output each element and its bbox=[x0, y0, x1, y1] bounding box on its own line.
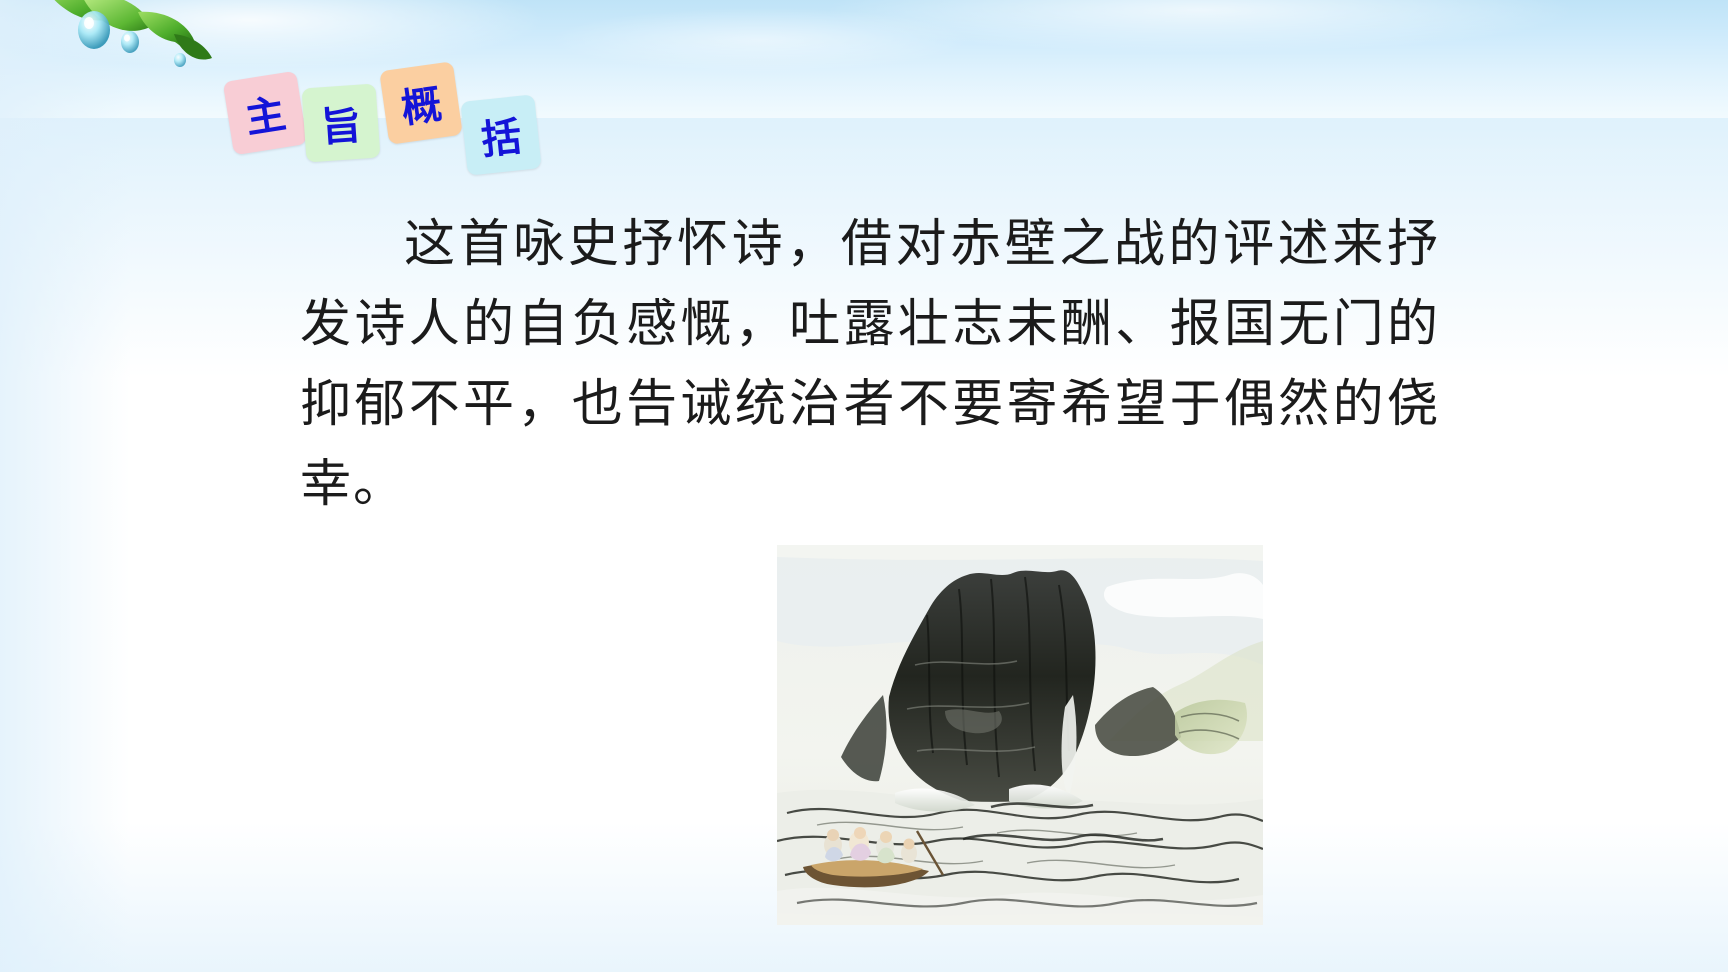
section-title-tiles: 主 旨 概 括 bbox=[228, 58, 628, 178]
title-tile-2-char: 旨 bbox=[319, 93, 363, 154]
slide-root: 主 旨 概 括 这首咏史抒怀诗，借对赤壁之战的评述来抒发诗人的自负感慨，吐露壮志… bbox=[0, 0, 1728, 972]
title-tile-3: 概 bbox=[379, 61, 463, 145]
leaf-dewdrop-icon bbox=[30, 0, 220, 100]
title-tile-4-char: 括 bbox=[478, 104, 524, 166]
chibi-cliff-ink-painting bbox=[777, 545, 1263, 925]
title-tile-2: 旨 bbox=[302, 84, 381, 163]
title-tile-1-char: 主 bbox=[241, 81, 290, 145]
body-paragraph: 这首咏史抒怀诗，借对赤壁之战的评述来抒发诗人的自负感慨，吐露壮志未酬、报国无门的… bbox=[300, 205, 1440, 525]
title-tile-4: 括 bbox=[460, 94, 541, 175]
title-tile-3-char: 概 bbox=[397, 71, 445, 134]
title-tile-1: 主 bbox=[223, 71, 308, 156]
left-glow-decoration bbox=[0, 0, 130, 972]
